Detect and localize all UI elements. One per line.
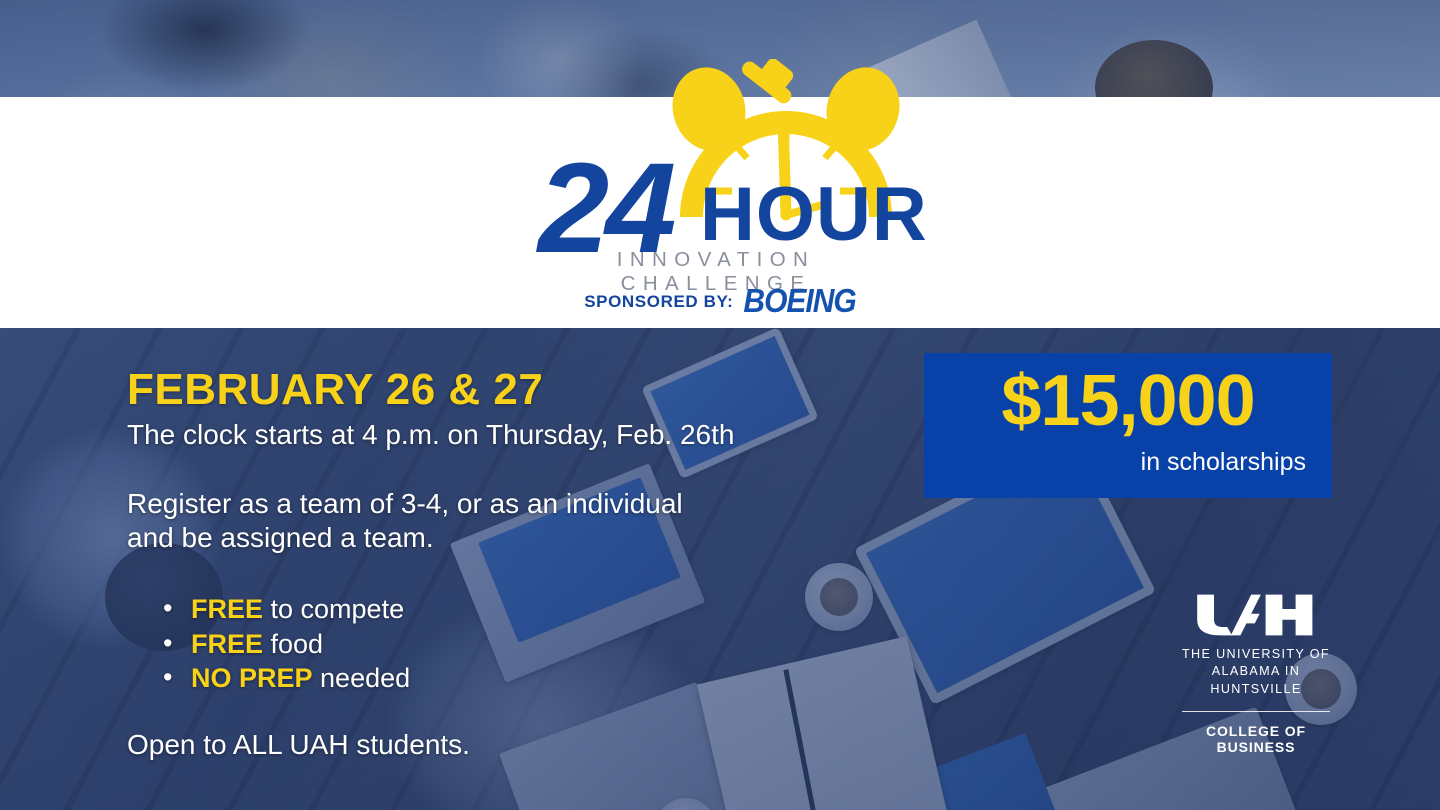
uah-logo-icon [1196,592,1316,638]
perk-text: to compete [263,594,404,624]
scholarship-caption: in scholarships [1141,448,1306,477]
eligibility-note: Open to ALL UAH students. [127,729,887,761]
registration-line-2: and be assigned a team. [127,521,887,555]
logo-word: HOUR [700,177,928,253]
perk-emphasis: FREE [191,629,263,659]
uah-name-line-2: ALABAMA IN HUNTSVILLE [1172,663,1340,698]
list-item: NO PREP needed [163,661,887,696]
perk-text: food [263,629,323,659]
photo-person-right-head [1095,40,1213,97]
uah-logo-lockup: THE UNIVERSITY OF ALABAMA IN HUNTSVILLE … [1172,592,1340,755]
photo-coffee-cup-bottom [655,798,717,810]
perk-text: needed [313,663,411,693]
uah-college-name: COLLEGE OF BUSINESS [1172,723,1340,755]
event-start-time: The clock starts at 4 p.m. on Thursday, … [127,418,887,451]
perks-list: FREE to compete FREE food NO PREP needed [163,592,887,696]
registration-instructions: Register as a team of 3-4, or as an indi… [127,487,887,555]
scholarship-badge: $15,000 in scholarships [924,353,1332,498]
registration-line-1: Register as a team of 3-4, or as an indi… [127,487,887,521]
sponsor-line: SPONSORED BY:BOEING [0,285,1440,319]
boeing-wordmark: BOEING [743,283,855,321]
event-date-headline: FEBRUARY 26 & 27 [127,368,887,413]
perk-emphasis: FREE [191,594,263,624]
list-item: FREE food [163,627,887,662]
uah-divider [1182,711,1330,712]
photo-person-left [0,0,309,97]
photo-laptop-bottom-right-screen [871,733,1073,810]
perk-emphasis: NO PREP [191,663,313,693]
scholarship-amount: $15,000 [924,365,1332,437]
photo-person-right [1010,0,1340,97]
uah-name-line-1: THE UNIVERSITY OF [1172,646,1340,663]
event-details: FEBRUARY 26 & 27 The clock starts at 4 p… [127,368,887,761]
list-item: FREE to compete [163,592,887,627]
poster-canvas: 24 HOUR INNOVATION CHALLENGE SPONSORED B… [0,0,1440,810]
logo-band: 24 HOUR INNOVATION CHALLENGE SPONSORED B… [0,97,1440,328]
event-logo: 24 HOUR INNOVATION CHALLENGE SPONSORED B… [0,97,1440,328]
sponsor-label: SPONSORED BY: [584,292,733,311]
